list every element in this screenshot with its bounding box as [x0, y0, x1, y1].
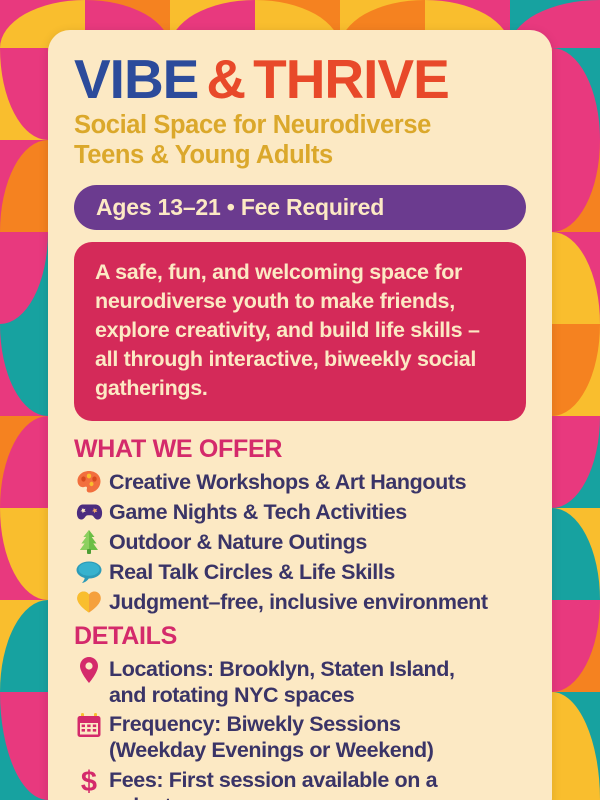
pattern-tile [552, 48, 600, 140]
offer-heading: WHAT WE OFFER [74, 435, 526, 464]
pattern-tile [0, 140, 48, 232]
description-line: explore creativity, and build life skill… [95, 316, 505, 345]
pattern-tile [0, 416, 48, 508]
list-item-label: Frequency: Biwekly Sessions (Weekday Eve… [109, 710, 434, 764]
list-item-label: Locations: Brooklyn, Staten Island, and … [109, 655, 455, 709]
pattern-tile [0, 48, 48, 140]
subtitle-line-2: Teens & Young Adults [74, 141, 526, 171]
pattern-tile [0, 324, 48, 416]
palette-icon [74, 468, 104, 496]
list-item: Locations: Brooklyn, Staten Island, and … [74, 655, 526, 709]
description-card: A safe, fun, and welcoming space for neu… [74, 242, 526, 421]
heart-icon [74, 588, 104, 616]
list-item: Outdoor & Nature Outings [74, 528, 526, 556]
poster-canvas: VIBE&THRIVE Social Space for Neurodivers… [0, 0, 600, 800]
description-line: gatherings. [95, 374, 505, 403]
detail-line-1: Frequency: Biwekly Sessions [109, 712, 434, 738]
detail-line-2: and rotating NYC spaces [109, 683, 455, 709]
list-item-label: Outdoor & Nature Outings [109, 528, 367, 556]
list-item-label: Judgment–free, inclusive environment [109, 588, 488, 616]
offer-list: Creative Workshops & Art Hangouts Game N… [74, 468, 526, 616]
description-line: A safe, fun, and welcoming space for [95, 258, 505, 287]
pattern-tile [0, 232, 48, 324]
poster-card: VIBE&THRIVE Social Space for Neurodivers… [48, 30, 552, 800]
subtitle: Social Space for Neurodiverse Teens & Yo… [74, 111, 526, 171]
title-ampersand: & [206, 48, 245, 110]
tree-icon [74, 528, 104, 556]
list-item: Frequency: Biwekly Sessions (Weekday Eve… [74, 710, 526, 764]
page-title: VIBE&THRIVE [74, 52, 526, 107]
pattern-tile [552, 324, 600, 416]
list-item: Creative Workshops & Art Hangouts [74, 468, 526, 496]
detail-line-1: Locations: Brooklyn, Staten Island, [109, 657, 455, 683]
pattern-tile [552, 232, 600, 324]
details-heading: DETAILS [74, 622, 526, 651]
calendar-icon [74, 710, 104, 740]
list-item-label: Creative Workshops & Art Hangouts [109, 468, 466, 496]
pattern-tile [552, 140, 600, 232]
list-item: Game Nights & Tech Activities [74, 498, 526, 526]
list-item-label: Fees: First session available on a volun… [109, 766, 526, 800]
pattern-tile [552, 600, 600, 692]
svg-text:$: $ [81, 766, 97, 796]
pattern-tile [552, 508, 600, 600]
details-list: Locations: Brooklyn, Staten Island, and … [74, 655, 526, 800]
list-item: Real Talk Circles & Life Skills [74, 558, 526, 586]
pattern-tile [552, 692, 600, 800]
ages-fee-badge: Ages 13–21 • Fee Required [74, 185, 526, 230]
list-item-label: Game Nights & Tech Activities [109, 498, 407, 526]
pattern-tile [552, 416, 600, 508]
description-line: neurodiverse youth to make friends, [95, 287, 505, 316]
list-item-label: Real Talk Circles & Life Skills [109, 558, 395, 586]
speech-bubble-icon [74, 558, 104, 586]
pattern-tile [0, 508, 48, 600]
location-pin-icon [74, 655, 104, 685]
detail-line-2: (Weekday Evenings or Weekend) [109, 738, 434, 764]
description-line: all through interactive, biweekly social [95, 345, 505, 374]
list-item: $ Fees: First session available on a vol… [74, 766, 526, 800]
list-item: Judgment–free, inclusive environment [74, 588, 526, 616]
pattern-tile [0, 692, 48, 800]
detail-line-1: Fees: First session available on a volun… [109, 768, 526, 800]
dollar-sign-icon: $ [74, 766, 104, 796]
subtitle-line-1: Social Space for Neurodiverse [74, 111, 526, 141]
title-word-thrive: THRIVE [253, 48, 449, 110]
title-word-vibe: VIBE [74, 48, 198, 110]
game-controller-icon [74, 498, 104, 526]
pattern-tile [0, 600, 48, 692]
